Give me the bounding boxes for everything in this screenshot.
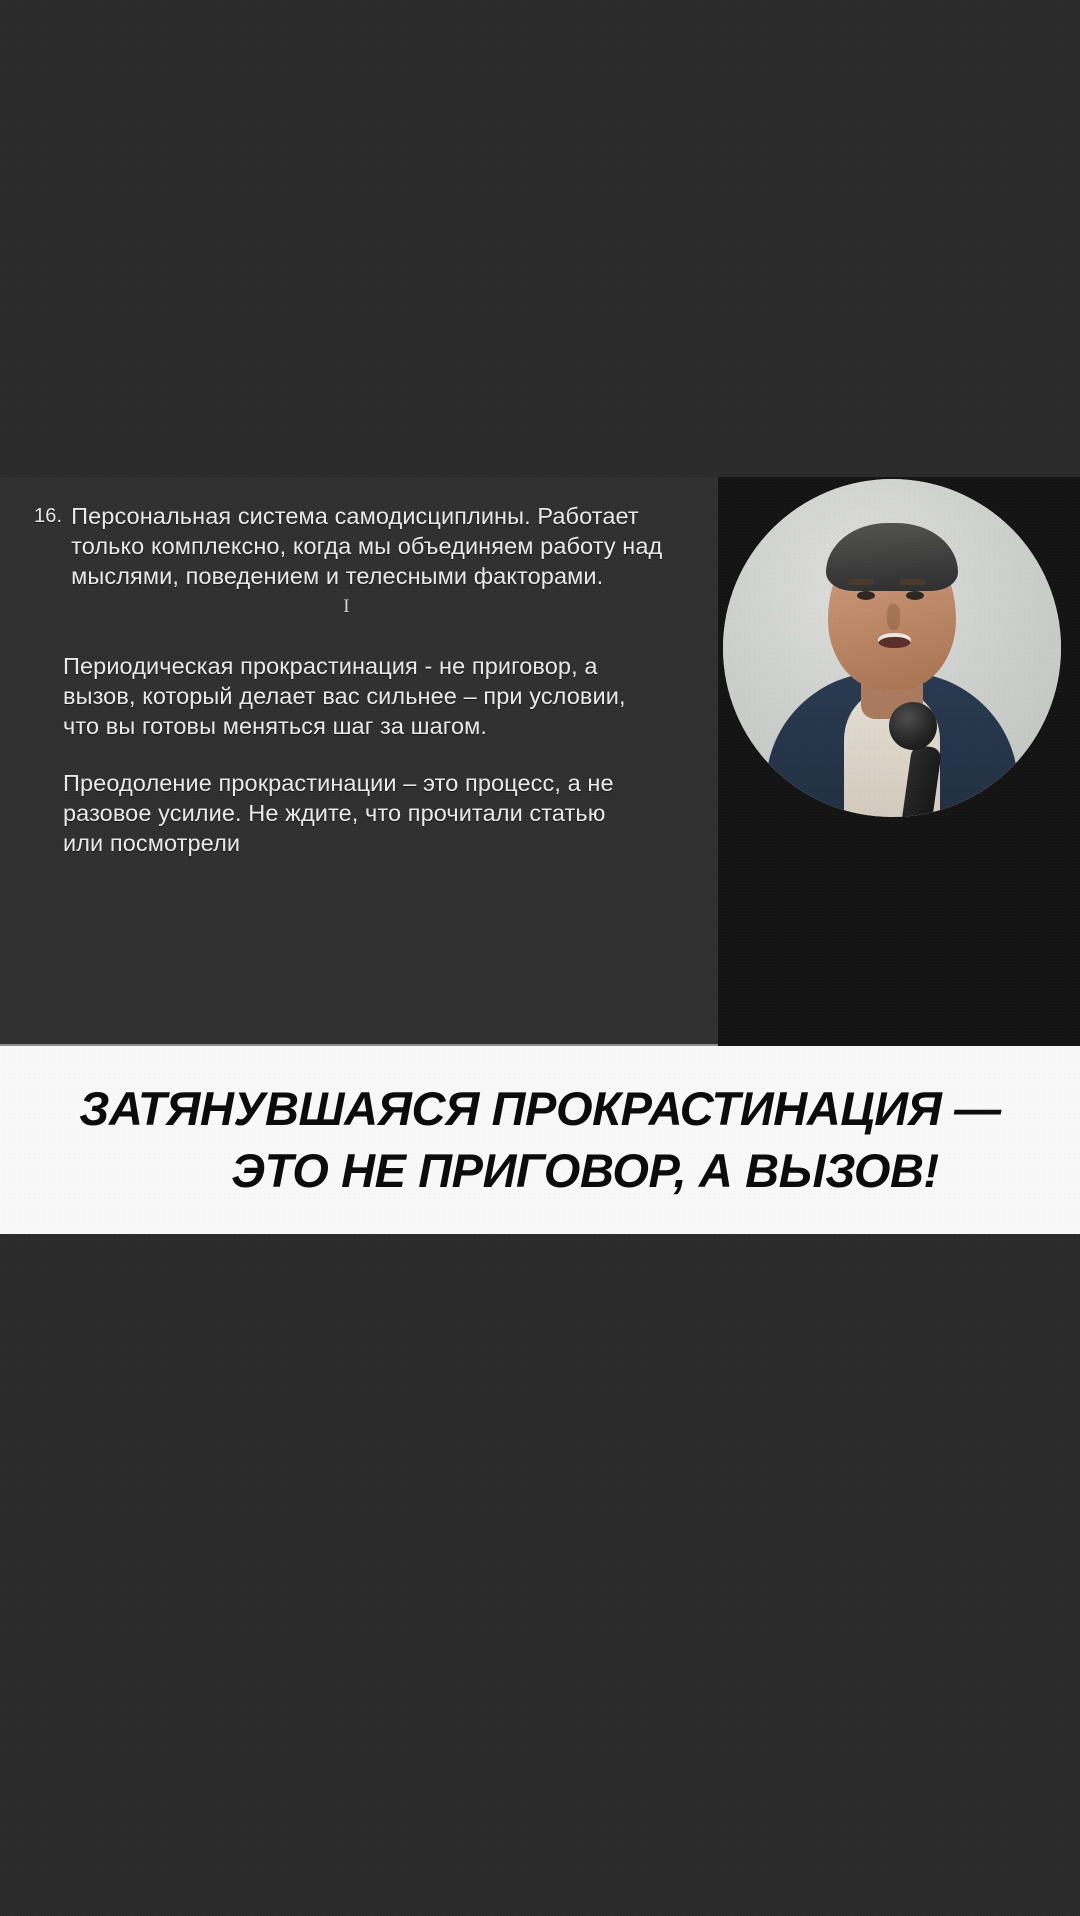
speaker-portrait-icon — [723, 479, 1061, 817]
portrait-brow-left — [848, 579, 874, 585]
portrait-mouth — [878, 633, 911, 648]
portrait-nose — [887, 604, 900, 630]
portrait-eye-left — [857, 591, 875, 600]
caption-headline-line-1: ЗАТЯНУВШАЯСЯ ПРОКРАСТИНАЦИЯ — — [24, 1078, 1056, 1140]
webcam-panel[interactable] — [718, 477, 1080, 1046]
screen-capture-row: 16. Персональная система самодисциплины.… — [0, 477, 1080, 1046]
caption-headline: ЗАТЯНУВШАЯСЯ ПРОКРАСТИНАЦИЯ — ЭТО НЕ ПРИ… — [0, 1078, 1080, 1202]
portrait-eye-right — [906, 591, 924, 600]
video-frame: 16. Персональная система самодисциплины.… — [0, 0, 1080, 1916]
caption-banner: ЗАТЯНУВШАЯСЯ ПРОКРАСТИНАЦИЯ — ЭТО НЕ ПРИ… — [0, 1046, 1080, 1234]
microphone-icon — [889, 702, 937, 750]
paragraph-2: Преодоление прокрастинации – это процесс… — [63, 768, 648, 858]
document-text-body: 16. Персональная система самодисциплины.… — [34, 501, 694, 858]
portrait-brow-right — [900, 579, 926, 585]
list-item-text: Персональная система самодисциплины. Раб… — [71, 501, 694, 591]
shared-document-panel[interactable]: 16. Персональная система самодисциплины.… — [0, 477, 718, 1046]
list-item-number: 16. — [34, 501, 62, 532]
text-caret-icon: I — [341, 597, 352, 617]
list-item: 16. Персональная система самодисциплины.… — [34, 501, 694, 591]
caption-headline-line-2: ЭТО НЕ ПРИГОВОР, А ВЫЗОВ! — [24, 1140, 1056, 1202]
top-letterbox-band — [0, 0, 1080, 477]
paragraph-1: Периодическая прокрастинация - не пригов… — [63, 651, 648, 741]
avatar — [723, 479, 1061, 817]
